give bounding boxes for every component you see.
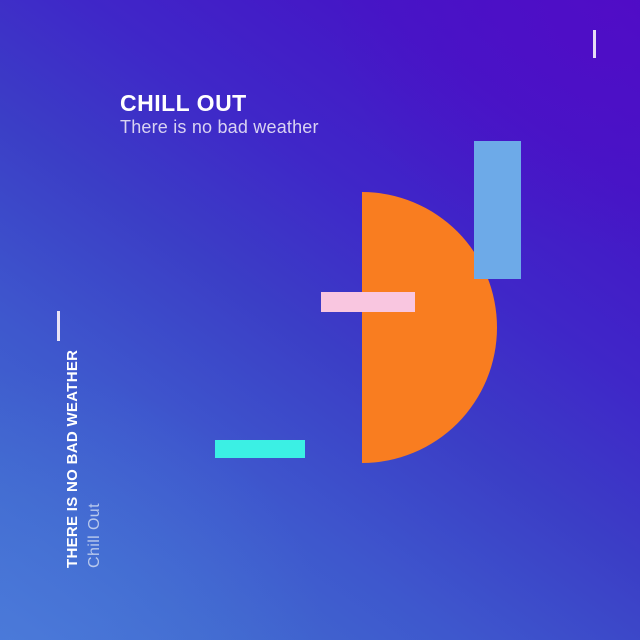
headline-block: CHILL OUT There is no bad weather — [120, 91, 319, 138]
page-title: CHILL OUT — [120, 91, 319, 115]
pink-horizontal-bar-shape — [321, 292, 415, 312]
blue-vertical-rectangle-shape — [474, 141, 521, 279]
side-text-primary: THERE IS NO BAD WEATHER — [64, 350, 81, 568]
page-subtitle: There is no bad weather — [120, 118, 319, 138]
side-text-secondary: Chill Out — [86, 503, 104, 568]
vertical-rule-mark-top-right — [593, 30, 596, 58]
poster-canvas: CHILL OUT There is no bad weather THERE … — [0, 0, 640, 640]
cyan-horizontal-bar-shape — [215, 440, 305, 458]
vertical-rule-mark-left — [57, 311, 60, 341]
